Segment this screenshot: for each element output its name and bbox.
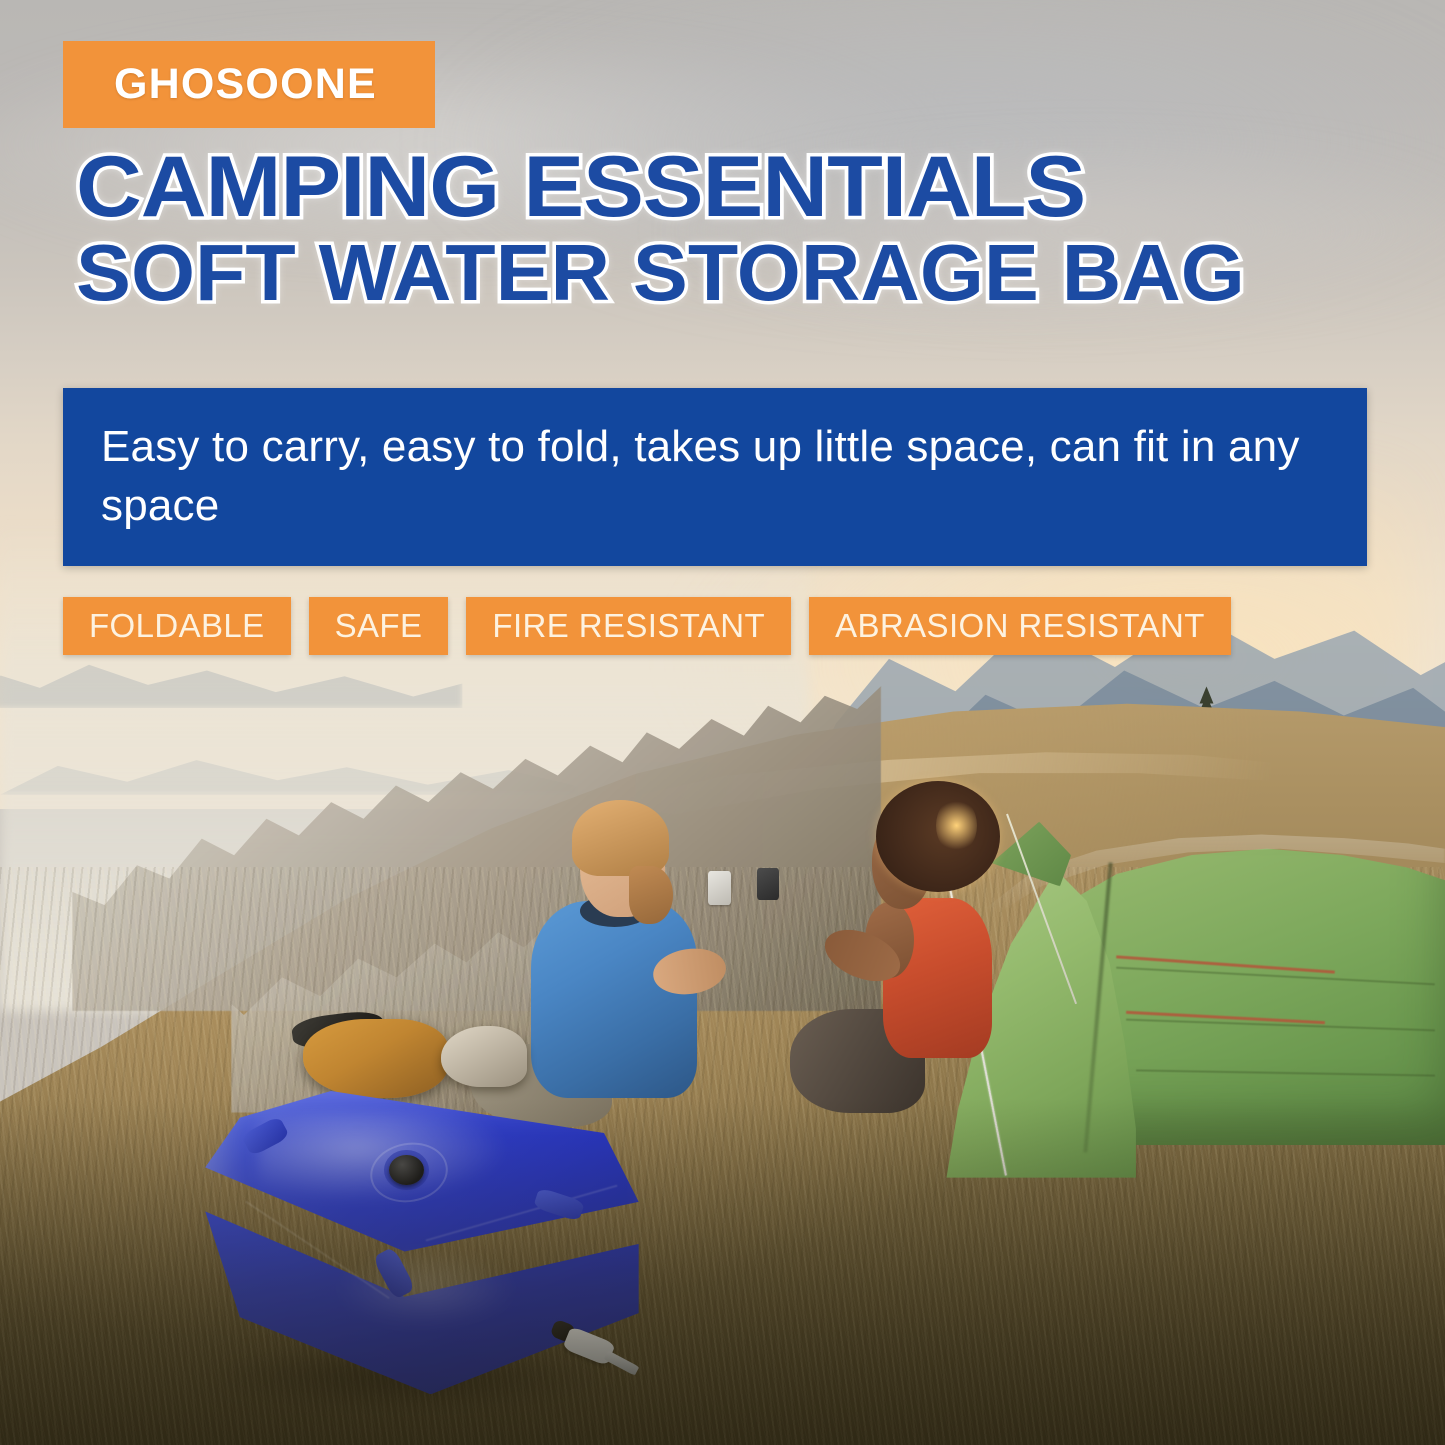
product-banner: GHOSOONE CAMPING ESSENTIALS SOFT WATER S… (0, 0, 1445, 1445)
headline-line-2: SOFT WATER STORAGE BAG (76, 235, 1415, 312)
man-camper (527, 809, 729, 1127)
description-text: Easy to carry, easy to fold, takes up li… (101, 418, 1329, 535)
brand-name: GHOSOONE (114, 60, 377, 109)
backpack (303, 1019, 448, 1098)
man-hair (572, 800, 669, 876)
feature-tag-label: SAFE (335, 607, 423, 645)
feature-tag-foldable: FOLDABLE (63, 597, 291, 655)
woman-camper (831, 788, 1019, 1135)
camping-mug (757, 868, 779, 900)
feature-tag-list: FOLDABLE SAFE FIRE RESISTANT ABRASION RE… (63, 597, 1231, 655)
man-beard (629, 866, 674, 923)
headline-line-1: CAMPING ESSENTIALS (76, 146, 1445, 229)
brand-badge: GHOSOONE (63, 41, 435, 128)
hiking-boot (441, 1026, 528, 1087)
feature-tag-label: ABRASION RESISTANT (835, 607, 1205, 645)
feature-tag-label: FOLDABLE (89, 607, 265, 645)
feature-tag-label: FIRE RESISTANT (492, 607, 765, 645)
foreground-shadow (0, 1098, 1445, 1445)
feature-tag-abrasion-resistant: ABRASION RESISTANT (809, 597, 1231, 655)
feature-tag-fire-resistant: FIRE RESISTANT (466, 597, 791, 655)
headline-block: CAMPING ESSENTIALS SOFT WATER STORAGE BA… (76, 146, 1376, 311)
feature-tag-safe: SAFE (309, 597, 449, 655)
man-blue-shirt (531, 901, 697, 1098)
description-banner: Easy to carry, easy to fold, takes up li… (63, 388, 1367, 566)
camping-mug (708, 871, 731, 904)
